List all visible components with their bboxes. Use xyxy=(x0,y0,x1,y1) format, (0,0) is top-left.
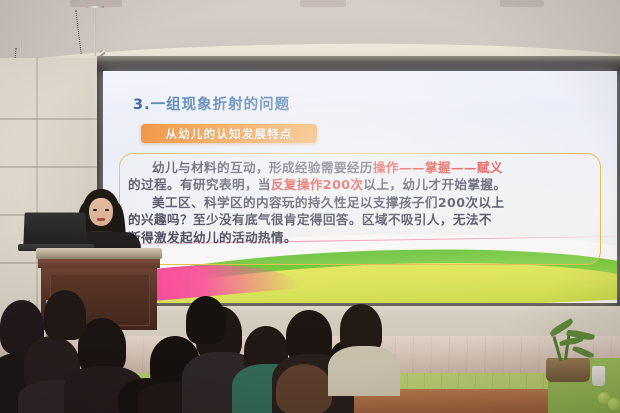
podium-surface xyxy=(36,248,162,259)
ceiling-vent xyxy=(300,0,346,7)
ceiling-vent xyxy=(500,0,544,7)
presenter-eye xyxy=(105,209,109,211)
audience-member xyxy=(186,296,226,344)
mic-hanger-rod xyxy=(94,6,96,56)
presenter-face xyxy=(89,198,113,226)
wall-panel-seam xyxy=(0,166,104,168)
laptop-screen xyxy=(23,212,86,246)
plant-pot xyxy=(546,358,590,382)
slide-body-segment: 美工区、科学区的内容玩的持久性足以支撑孩子们200次以上 xyxy=(152,195,504,210)
slide-body-line: 的兴趣吗？至少没有底气很肯定得回答。区域不吸引人，无法不 xyxy=(128,211,592,228)
slide-body-segment: 的兴趣吗？至少没有底气很肯定得回答。区域不吸引人，无法不 xyxy=(128,212,492,227)
screen-top-valance xyxy=(97,56,620,71)
presenter-eye xyxy=(93,209,97,211)
table-cup xyxy=(592,366,605,386)
slide-body-segment: 以上，幼儿才开始掌握。 xyxy=(363,177,506,192)
slide-title-number: 3. xyxy=(133,97,151,113)
presenter-mouth xyxy=(97,218,105,221)
apple-fruit xyxy=(608,398,620,410)
slide-body-textbox: 幼儿与材料的互动，形成经验需要经历操作——掌握——赋义的过程。有研究表明，当反复… xyxy=(119,153,601,265)
slide-title: 3.一组现象折射的问题 xyxy=(133,93,290,114)
slide-body-segment: 幼儿与材料的互动，形成经验需要经历 xyxy=(152,160,373,175)
projected-slide: 3.一组现象折射的问题 从幼儿的认知发展特点 幼儿与材料的互动，形成经验需要经历… xyxy=(103,71,617,303)
podium-trim xyxy=(38,259,160,268)
slide-body-segment: 操作——掌握——赋义 xyxy=(373,160,503,175)
slide-title-text: 一组现象折射的问题 xyxy=(151,97,291,113)
wall-panel-seam xyxy=(0,118,104,120)
audience-member xyxy=(328,346,400,396)
audience-member xyxy=(276,364,332,413)
presentation-room-scene: 3.一组现象折射的问题 从幼儿的认知发展特点 幼儿与材料的互动，形成经验需要经历… xyxy=(0,0,620,413)
slide-body-line: 美工区、科学区的内容玩的持久性足以支撑孩子们200次以上 xyxy=(128,194,592,211)
slide-body-line: 幼儿与材料的互动，形成经验需要经历操作——掌握——赋义 xyxy=(128,159,592,176)
mic-hanger-bracket xyxy=(86,6,104,8)
audience-member xyxy=(44,290,86,340)
slide-body-segment: 反复操作200次 xyxy=(271,177,363,192)
slide-body-line: 的过程。有研究表明，当反复操作200次以上，幼儿才开始掌握。 xyxy=(128,176,592,193)
slide-body-line: 断得激发起幼儿的活动热情。 xyxy=(128,229,592,246)
slide-body-lines: 幼儿与材料的互动，形成经验需要经历操作——掌握——赋义的过程。有研究表明，当反复… xyxy=(128,159,592,246)
slide-banner-label: 从幼儿的认知发展特点 xyxy=(166,126,293,142)
slide-section-banner: 从幼儿的认知发展特点 xyxy=(141,124,317,143)
